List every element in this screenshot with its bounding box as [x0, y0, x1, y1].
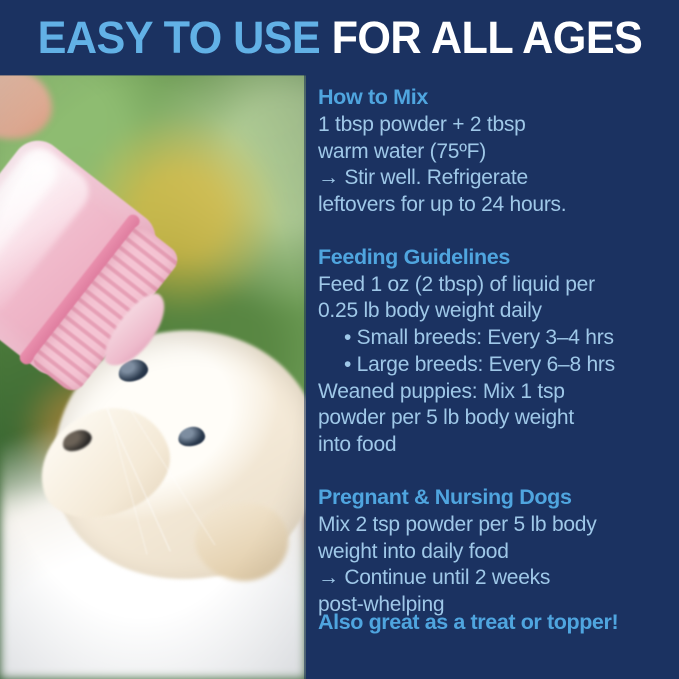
text-line: 0.25 lb body weight daily — [318, 298, 670, 325]
section-heading: How to Mix — [318, 85, 670, 111]
infographic-panel: EASY TO USE FOR ALL AGES How to Mix 1 t — [0, 0, 679, 679]
text-line: → Stir well. Refrigerate — [318, 165, 670, 192]
section-heading: Feeding Guidelines — [318, 245, 670, 271]
text-line: Weaned puppies: Mix 1 tsp — [318, 379, 670, 406]
section-heading: Pregnant & Nursing Dogs — [318, 485, 670, 511]
text-line: warm water (75ºF) — [318, 139, 670, 166]
text-line: powder per 5 lb body weight — [318, 405, 670, 432]
page-title-accent: EASY TO USE — [37, 12, 320, 63]
tagline-area: Also great as a treat or topper! — [318, 610, 670, 636]
header-banner: EASY TO USE FOR ALL AGES — [0, 0, 679, 75]
instructions-column: How to Mix 1 tbsp powder + 2 tbsp warm w… — [318, 85, 670, 619]
puppy-bottle-photo — [0, 75, 306, 679]
section-body: Mix 2 tsp powder per 5 lb body weight in… — [318, 512, 670, 619]
section-pregnant-nursing-dogs: Pregnant & Nursing Dogs Mix 2 tsp powder… — [318, 485, 670, 619]
section-spacer — [318, 459, 670, 485]
tagline: Also great as a treat or topper! — [318, 610, 670, 636]
section-body: Feed 1 oz (2 tbsp) of liquid per 0.25 lb… — [318, 272, 670, 459]
text-line: Feed 1 oz (2 tbsp) of liquid per — [318, 272, 670, 299]
section-body: 1 tbsp powder + 2 tbsp warm water (75ºF)… — [318, 112, 670, 219]
section-spacer — [318, 219, 670, 245]
photo-edge — [0, 75, 306, 679]
text-line: Mix 2 tsp powder per 5 lb body — [318, 512, 670, 539]
bullet-line: • Small breeds: Every 3–4 hrs — [318, 325, 670, 352]
bullet-line: • Large breeds: Every 6–8 hrs — [318, 352, 670, 379]
text-line: weight into daily food — [318, 539, 670, 566]
page-title: EASY TO USE FOR ALL AGES — [37, 15, 642, 60]
text-line: into food — [318, 432, 670, 459]
section-feeding-guidelines: Feeding Guidelines Feed 1 oz (2 tbsp) of… — [318, 245, 670, 459]
page-title-white — [320, 12, 331, 63]
page-title-secondary: FOR ALL AGES — [331, 12, 642, 63]
text-line: → Continue until 2 weeks — [318, 565, 670, 592]
text-line: 1 tbsp powder + 2 tbsp — [318, 112, 670, 139]
section-how-to-mix: How to Mix 1 tbsp powder + 2 tbsp warm w… — [318, 85, 670, 219]
text-line: leftovers for up to 24 hours. — [318, 192, 670, 219]
